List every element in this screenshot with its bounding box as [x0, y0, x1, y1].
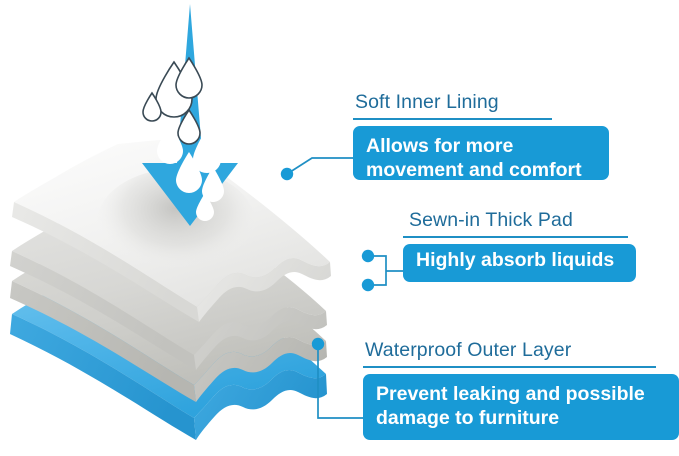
callout-rule — [353, 118, 552, 120]
callout-rule — [363, 366, 656, 368]
callout-heading-sewn-in-thick-pad: Sewn-in Thick Pad — [403, 210, 636, 231]
callout-box-soft-inner-lining: Allows for more movement and comfort — [353, 126, 609, 180]
connector-dot — [312, 338, 324, 350]
callout-box-sewn-in-thick-pad: Highly absorb liquids — [403, 244, 636, 282]
callout-heading-soft-inner-lining: Soft Inner Lining — [353, 92, 609, 113]
callout-soft-inner-lining: Soft Inner Lining Allows for more moveme… — [353, 92, 609, 180]
connector-sewn-in-thick-pad — [362, 250, 403, 291]
callout-body-line: Highly absorb liquids — [416, 249, 623, 273]
connector-dot — [362, 279, 374, 291]
callout-body-line: movement and comfort — [366, 159, 596, 183]
sewn-in-pad-layer-lower-shape — [10, 226, 327, 402]
down-arrow-icon — [142, 4, 238, 226]
callout-box-waterproof-outer-layer: Prevent leaking and possible damage to f… — [363, 374, 679, 440]
pad-layers-illustration — [0, 0, 360, 456]
callout-body-line: Allows for more — [366, 135, 596, 159]
callout-body-line: Prevent leaking and possible — [376, 383, 666, 407]
diagram-canvas: Soft Inner Lining Allows for more moveme… — [0, 0, 679, 456]
waterproof-outer-layer-shape — [10, 259, 327, 440]
connector-dot — [281, 168, 293, 180]
connector-waterproof-outer-layer — [312, 338, 363, 418]
connector-dot — [362, 250, 374, 262]
connector-soft-inner-lining — [281, 158, 353, 180]
callout-sewn-in-thick-pad: Sewn-in Thick Pad Highly absorb liquids — [403, 210, 636, 282]
sewn-in-pad-layer-upper-shape — [10, 196, 327, 370]
callout-rule — [403, 236, 628, 238]
callout-heading-waterproof-outer-layer: Waterproof Outer Layer — [363, 340, 679, 361]
water-droplet-icon-group — [143, 58, 224, 221]
callout-waterproof-outer-layer: Waterproof Outer Layer Prevent leaking a… — [363, 340, 679, 440]
soft-inner-lining-layer-shape — [12, 139, 331, 322]
callout-body-line: damage to furniture — [376, 407, 666, 431]
